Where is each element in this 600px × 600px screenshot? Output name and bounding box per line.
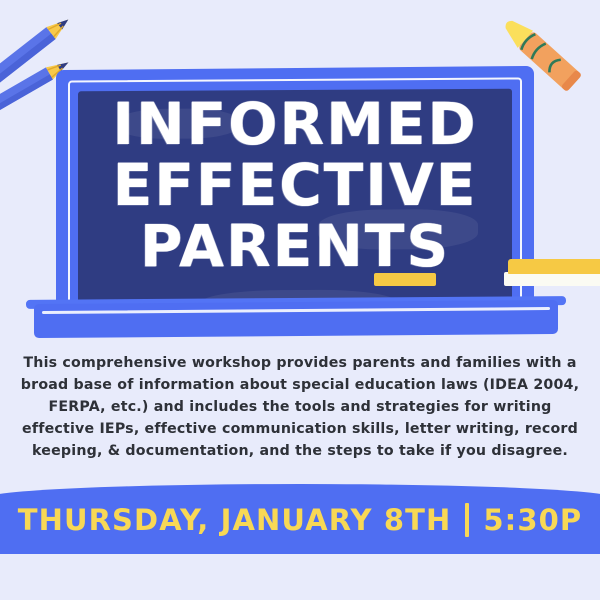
banner-date: THURSDAY, JANUARY 8TH: [18, 503, 452, 537]
eraser-icon: [374, 273, 436, 286]
chalkboard-surface: INFORMED EFFECTIVE PARENTS: [78, 89, 512, 322]
poster-canvas: INFORMED EFFECTIVE PARENTS This comprehe…: [0, 0, 600, 600]
description-text: This comprehensive workshop provides par…: [20, 352, 580, 462]
date-banner: THURSDAY, JANUARY 8TH 5:30P: [0, 484, 600, 554]
chalk-tray: [34, 300, 558, 338]
chalk-eraser-icon: [504, 259, 600, 286]
chalk-tray-items: [112, 258, 478, 286]
banner-divider: [465, 503, 469, 537]
chalkboard: INFORMED EFFECTIVE PARENTS: [56, 68, 534, 320]
banner-time: 5:30P: [483, 503, 582, 537]
poster-title: INFORMED EFFECTIVE PARENTS: [78, 96, 512, 274]
title-line-1: INFORMED: [78, 96, 512, 153]
title-line-2: EFFECTIVE: [78, 157, 512, 214]
chalk-tray-highlight: [42, 307, 550, 313]
